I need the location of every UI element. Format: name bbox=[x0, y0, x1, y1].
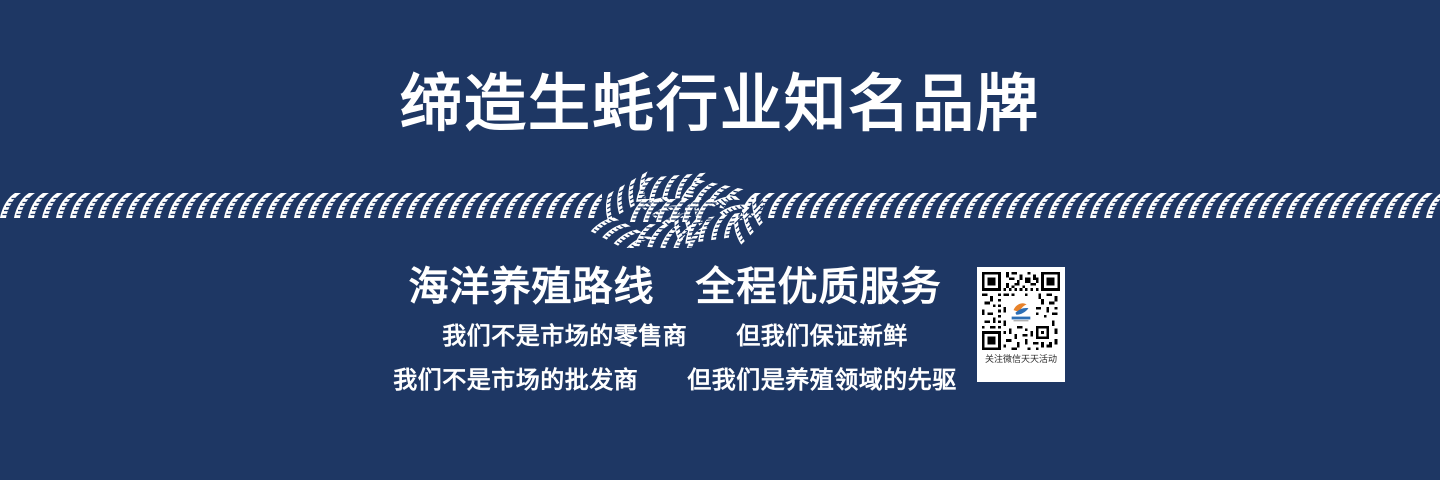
rope-divider-icon bbox=[740, 192, 1440, 220]
qr-card[interactable]: 关注微信天天活动 bbox=[977, 267, 1065, 382]
page-title: 缔造生蚝行业知名品牌 bbox=[0, 66, 1440, 142]
rope-knot-icon bbox=[578, 170, 764, 248]
rope-segment-right bbox=[740, 192, 1440, 220]
qr-code-wrap bbox=[982, 272, 1060, 350]
body-line: 我们不是市场的零售商 但我们保证新鲜 bbox=[0, 320, 1440, 352]
qr-caption: 关注微信天天活动 bbox=[982, 353, 1060, 367]
body-line: 我们不是市场的批发商 但我们是养殖领域的先驱 bbox=[0, 364, 1440, 396]
promo-banner: 缔造生蚝行业知名品牌 bbox=[0, 0, 1440, 480]
rope-divider bbox=[0, 170, 1440, 248]
subtitle: 海洋养殖路线 全程优质服务 bbox=[0, 262, 1440, 312]
rope-divider-icon bbox=[0, 192, 602, 220]
rope-segment-left bbox=[0, 192, 602, 220]
brand-logo-icon bbox=[1006, 296, 1036, 326]
